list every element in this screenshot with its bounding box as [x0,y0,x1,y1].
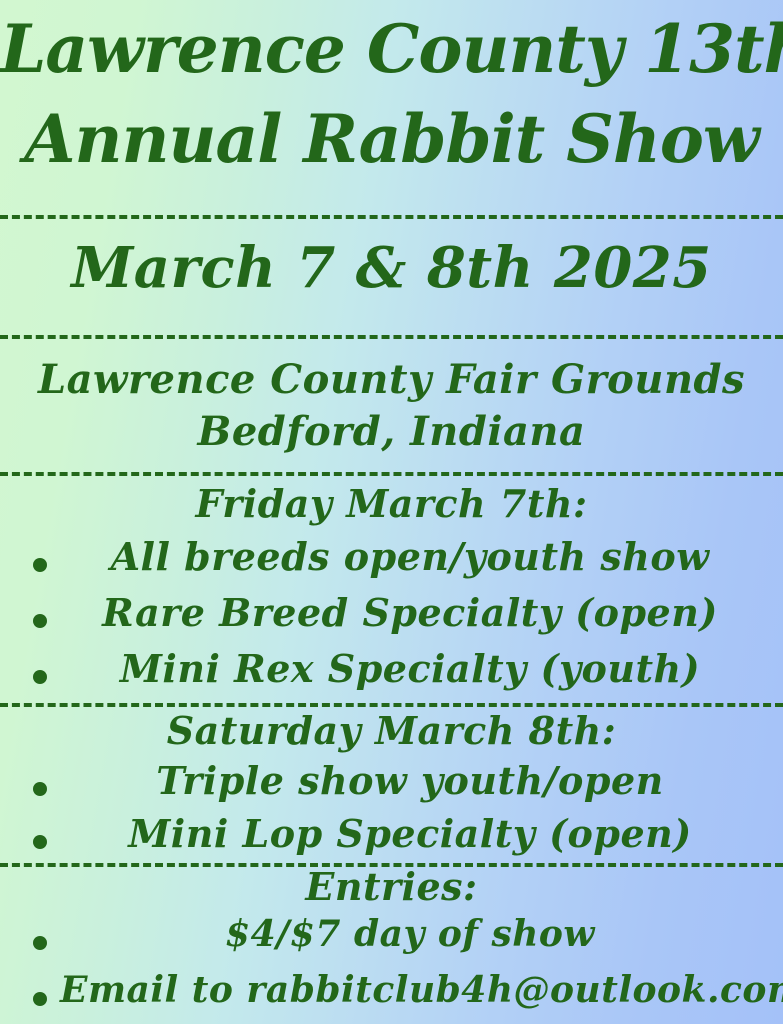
venue-location: Bedford, Indiana [0,412,783,453]
divider-below-friday [0,703,783,707]
entries-heading: Entries: [0,868,783,907]
bullet-dot-icon [33,835,47,849]
bullet-dot-icon [33,614,47,628]
bullet-dot-icon [33,782,47,796]
bullet-dot-icon [33,558,47,572]
bullet-dot-icon [33,936,47,950]
list-item: Mini Rex Specialty (youth) [0,650,783,706]
divider-below-title [0,215,783,219]
flyer-title-line-2: Annual Rabbit Show [0,106,783,173]
friday-item-2: Rare Breed Specialty (open) [60,594,760,633]
entries-item-email: Email to rabbitclub4h@outlook.com [60,972,760,1009]
list-item: All breeds open/youth show [0,538,783,594]
divider-below-venue [0,472,783,476]
saturday-item-2: Mini Lop Specialty (open) [60,815,760,854]
saturday-item-1: Triple show youth/open [60,762,760,801]
event-date: March 7 & 8th 2025 [0,240,783,297]
saturday-heading: Saturday March 8th: [0,712,783,751]
list-item: Triple show youth/open [0,762,783,818]
list-item: Email to rabbitclub4h@outlook.com [0,972,783,1024]
friday-item-3: Mini Rex Specialty (youth) [60,650,760,689]
list-item: Rare Breed Specialty (open) [0,594,783,650]
event-flyer: Lawrence County 13th Annual Rabbit Show … [0,0,783,1024]
bullet-dot-icon [33,992,47,1006]
friday-item-1: All breeds open/youth show [60,538,760,577]
flyer-title-line-1: Lawrence County 13th [0,16,783,83]
venue-name: Lawrence County Fair Grounds [0,360,783,401]
friday-heading: Friday March 7th: [0,485,783,524]
list-item: $4/$7 day of show [0,916,783,972]
bullet-dot-icon [33,670,47,684]
entries-item-price: $4/$7 day of show [60,916,760,953]
divider-below-date [0,335,783,339]
